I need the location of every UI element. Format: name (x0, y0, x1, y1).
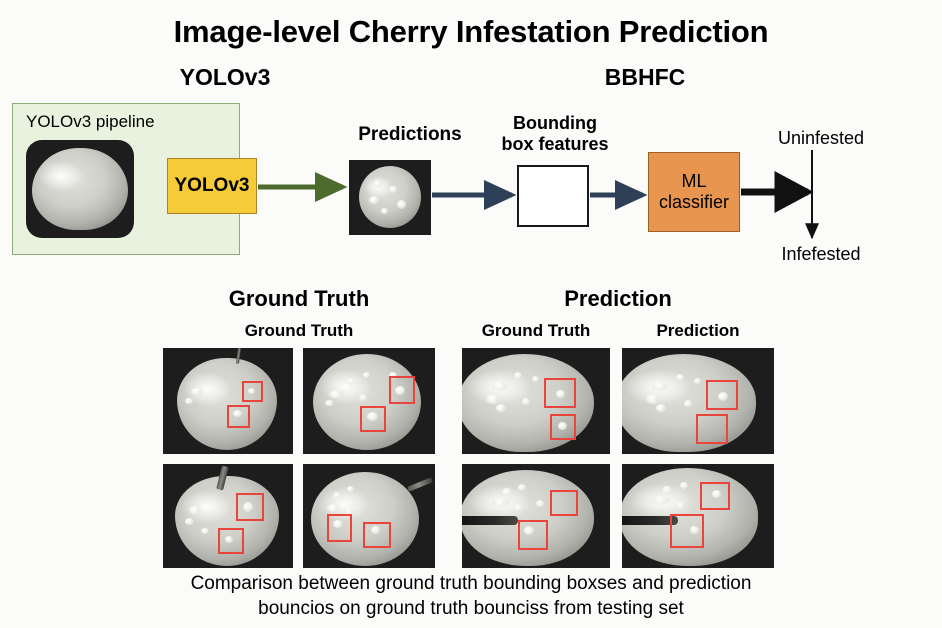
bounding-box-features-box (517, 165, 589, 227)
cherry-shape (359, 166, 421, 228)
bounding-box (700, 482, 730, 510)
caption-line-2: bouncios on ground truth bounciss from t… (258, 598, 684, 619)
defect-spot (185, 398, 193, 404)
outcome-uninfested-label: Uninfested (746, 128, 896, 149)
defect-spot (514, 504, 523, 511)
defect-spot (369, 196, 379, 204)
predictions-image (349, 160, 431, 235)
defect-spot (502, 488, 512, 496)
defect-spot (646, 394, 660, 404)
bounding-box-features-label: Bounding box features (490, 113, 620, 154)
defect-spot (359, 394, 367, 401)
ml-classifier-line2: classifier (659, 192, 729, 213)
defect-spot (189, 506, 201, 514)
defect-spot (532, 376, 539, 382)
result-tile (462, 348, 610, 454)
defect-spot (656, 404, 666, 412)
defect-spot (680, 482, 688, 489)
defect-spot (684, 400, 692, 407)
bounding-box (360, 406, 386, 432)
defect-spot (397, 200, 406, 209)
cherry-shape (177, 358, 277, 450)
result-tile (303, 348, 435, 454)
defect-spot (694, 378, 701, 384)
bounding-box (550, 490, 578, 516)
defect-spot (327, 504, 340, 512)
group-title-ground-truth: Ground Truth (163, 286, 435, 312)
outcome-infested-label: Infefested (746, 244, 896, 265)
defect-spot (522, 398, 530, 405)
defect-spot (191, 388, 203, 395)
column-label-ground-truth-right: Ground Truth (462, 321, 610, 341)
predictions-label: Predictions (340, 124, 480, 146)
defect-spot (389, 186, 397, 193)
bounding-box (327, 514, 352, 542)
result-tile (462, 464, 610, 568)
bounding-box (227, 405, 250, 428)
defect-spot (185, 518, 194, 525)
defect-spot (676, 374, 684, 381)
caption-line-1: Comparison between ground truth bounding… (191, 573, 752, 594)
cherry-stem (407, 477, 433, 491)
defect-spot (363, 372, 370, 378)
defect-spot (486, 394, 500, 404)
result-tile (622, 348, 774, 454)
bounding-box (706, 380, 738, 410)
result-tile (622, 464, 774, 568)
defect-spot (536, 500, 544, 507)
bounding-box (518, 520, 548, 550)
defect-spot (325, 400, 334, 406)
bounding-box (363, 522, 391, 548)
cherry-stem (462, 516, 518, 525)
bounding-box (389, 376, 415, 404)
bounding-box (218, 528, 244, 554)
defect-spot (492, 382, 508, 391)
defect-spot (676, 502, 685, 509)
bounding-box (242, 381, 263, 402)
figure-canvas: Image-level Cherry Infestation Predictio… (0, 0, 942, 628)
yolov3-model-box: YOLOv3 (167, 158, 257, 214)
ml-classifier-line1: ML (681, 171, 706, 192)
result-tile (163, 348, 293, 454)
bounding-box (544, 378, 576, 408)
defect-spot (381, 208, 388, 214)
defect-spot (492, 498, 510, 507)
bounding-box (550, 414, 576, 440)
figure-caption: Comparison between ground truth bounding… (56, 572, 886, 621)
column-label-prediction-right: Prediction (622, 321, 774, 341)
defect-spot (333, 492, 341, 499)
defect-spot (373, 180, 382, 188)
yolov3-pipeline-label: YOLOv3 pipeline (26, 112, 155, 132)
column-label-ground-truth-left: Ground Truth (163, 321, 435, 341)
defect-spot (662, 486, 672, 494)
bounding-box (236, 493, 264, 521)
group-title-prediction: Prediction (462, 286, 774, 312)
defect-spot (347, 378, 355, 385)
bounding-box (670, 514, 704, 548)
defect-spot (652, 382, 668, 391)
defect-spot (652, 496, 670, 505)
ml-classifier-box: ML classifier (648, 152, 740, 232)
defect-spot (496, 404, 506, 412)
bbf-label-line1: Bounding (513, 113, 597, 133)
defect-spot (329, 390, 343, 398)
defect-spot (514, 372, 522, 379)
cherry-shape (32, 148, 128, 230)
bbf-label-line2: box features (501, 134, 608, 154)
bounding-box (696, 414, 728, 444)
result-tile (303, 464, 435, 568)
defect-spot (347, 486, 354, 492)
defect-spot (518, 484, 526, 491)
result-tile (163, 464, 293, 568)
pipeline-input-image (26, 140, 134, 238)
defect-spot (201, 528, 209, 534)
